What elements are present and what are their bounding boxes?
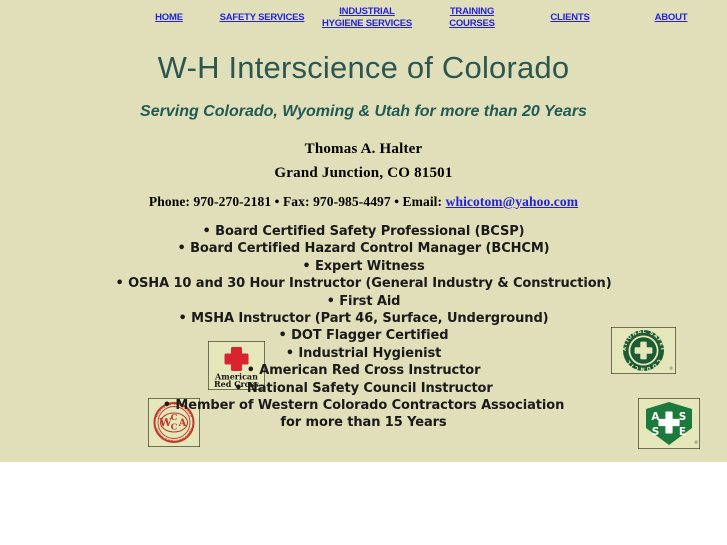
contact-phone-fax-text: Phone: 970-270-2181 • Fax: 970-985-4497 … <box>149 194 446 209</box>
nav-link-industrial-hygiene-services-line2: HYGIENE SERVICES <box>316 18 418 30</box>
credential-item: • American Red Cross Instructor <box>0 362 727 379</box>
nav-link-clients[interactable]: CLIENTS <box>546 12 594 24</box>
nav-link-training-courses-line1: TRAINING <box>450 6 494 17</box>
svg-text:®: ® <box>694 439 699 446</box>
contact-block: Thomas A. Halter Grand Junction, CO 8150… <box>0 137 727 212</box>
credential-item: • Board Certified Hazard Control Manager… <box>0 240 727 257</box>
nav-link-training-courses-line2: COURSES <box>440 18 504 30</box>
credential-item: • DOT Flagger Certified <box>0 327 727 344</box>
page-tagline: Serving Colorado, Wyoming & Utah for mor… <box>0 102 727 122</box>
credential-item: • Expert Witness <box>0 258 727 275</box>
nav-link-safety-services-line1: SAFETY SERVICES <box>220 12 305 23</box>
credential-item: • Member of Western Colorado Contractors… <box>0 397 727 414</box>
contact-name: Thomas A. Halter <box>0 137 727 161</box>
contact-phone-fax-email: Phone: 970-270-2181 • Fax: 970-985-4497 … <box>0 192 727 212</box>
nav-link-industrial-hygiene-services-line1: INDUSTRIAL <box>339 6 395 17</box>
credential-item: • National Safety Council Instructor <box>0 380 727 397</box>
nav-link-clients-line1: CLIENTS <box>550 12 589 23</box>
nav-link-safety-services[interactable]: SAFETY SERVICES <box>212 12 312 24</box>
credential-item: for more than 15 Years <box>0 414 727 431</box>
credential-item: • Board Certified Safety Professional (B… <box>0 223 727 240</box>
nav-link-about-line1: ABOUT <box>655 12 688 23</box>
nav-link-home-line1: HOME <box>155 12 183 23</box>
nav-link-about[interactable]: ABOUT <box>650 12 692 24</box>
page-title: W-H Interscience of Colorado <box>0 50 727 86</box>
nav-link-home[interactable]: HOME <box>152 12 186 24</box>
credential-item: • MSHA Instructor (Part 46, Surface, Und… <box>0 310 727 327</box>
nav-link-industrial-hygiene-services[interactable]: INDUSTRIAL HYGIENE SERVICES <box>316 6 418 30</box>
credentials-list: • Board Certified Safety Professional (B… <box>0 223 727 432</box>
contact-email-link[interactable]: whicotom@yahoo.com <box>446 194 578 209</box>
nav-link-training-courses[interactable]: TRAINING COURSES <box>440 6 504 30</box>
credential-item: • First Aid <box>0 293 727 310</box>
credential-item: • Industrial Hygienist <box>0 345 727 362</box>
main-navigation: HOME SAFETY SERVICES INDUSTRIAL HYGIENE … <box>0 0 727 38</box>
page-content-area: HOME SAFETY SERVICES INDUSTRIAL HYGIENE … <box>0 0 727 462</box>
contact-location: Grand Junction, CO 81501 <box>0 161 727 185</box>
credential-item: • OSHA 10 and 30 Hour Instructor (Genera… <box>0 275 727 292</box>
